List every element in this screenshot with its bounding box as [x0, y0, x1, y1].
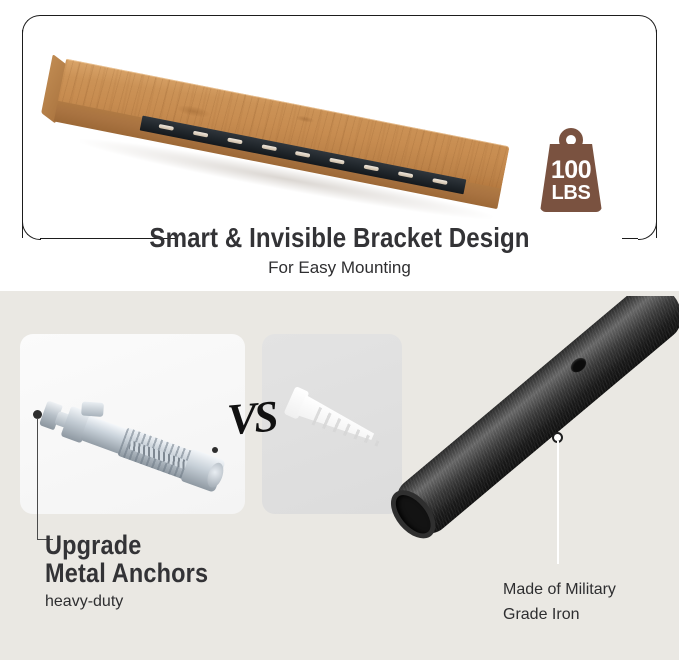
frame-corner-bottom-left — [22, 221, 41, 240]
pipe-caption-line2: Grade Iron — [503, 603, 679, 628]
shelf-product-photo — [60, 18, 530, 218]
panel-subtitle: For Easy Mounting — [0, 258, 679, 278]
iron-pipe — [386, 296, 679, 545]
product-infographic: 100 LBS Smart & Invisible Bracket Design… — [0, 0, 679, 660]
weight-unit: LBS — [551, 183, 590, 203]
anchor-heading-line2: Metal Anchors — [45, 559, 306, 587]
anchor-callout-text: Upgrade Metal Anchors heavy-duty — [45, 531, 345, 611]
bracket-slot-icon — [158, 124, 174, 131]
anchor-heading-line1: Upgrade — [45, 531, 306, 559]
bracket-slot-icon — [193, 130, 209, 137]
frame-edge-top — [40, 15, 638, 16]
weight-value: 100 — [551, 159, 591, 183]
weight-capacity-badge: 100 LBS — [540, 128, 602, 212]
bracket-slot-icon — [432, 178, 448, 185]
leader-line-pipe — [557, 441, 559, 564]
frame-edge-left — [22, 30, 23, 238]
anchor-subtitle: heavy-duty — [45, 593, 345, 611]
leader-dot-vs — [212, 447, 218, 453]
frame-edge-right — [656, 30, 657, 238]
panel-title: Smart & Invisible Bracket Design — [48, 222, 632, 254]
bracket-slot-icon — [329, 158, 345, 165]
leader-line-anchor-vertical — [37, 418, 38, 540]
vs-label: VS — [225, 390, 288, 457]
bracket-slot-icon — [261, 144, 277, 151]
top-panel-bracket-design: 100 LBS Smart & Invisible Bracket Design… — [0, 0, 679, 291]
pipe-caption-line1: Made of Military — [503, 578, 679, 603]
bracket-slot-icon — [227, 137, 243, 144]
bracket-slot-icon — [364, 164, 380, 171]
wood-knot-icon — [295, 114, 316, 124]
wood-knot-icon — [176, 103, 211, 119]
bracket-slot-icon — [295, 151, 311, 158]
frame-corner-bottom-right — [638, 221, 657, 240]
frame-corner-top-left — [22, 15, 41, 34]
bracket-slot-icon — [398, 171, 414, 178]
anchor-tab — [81, 401, 104, 417]
frame-corner-top-right — [638, 15, 657, 34]
weight-body-icon: 100 LBS — [540, 144, 602, 212]
iron-pipe-photo — [386, 296, 679, 596]
pipe-callout-text: Made of Military Grade Iron — [503, 578, 679, 628]
